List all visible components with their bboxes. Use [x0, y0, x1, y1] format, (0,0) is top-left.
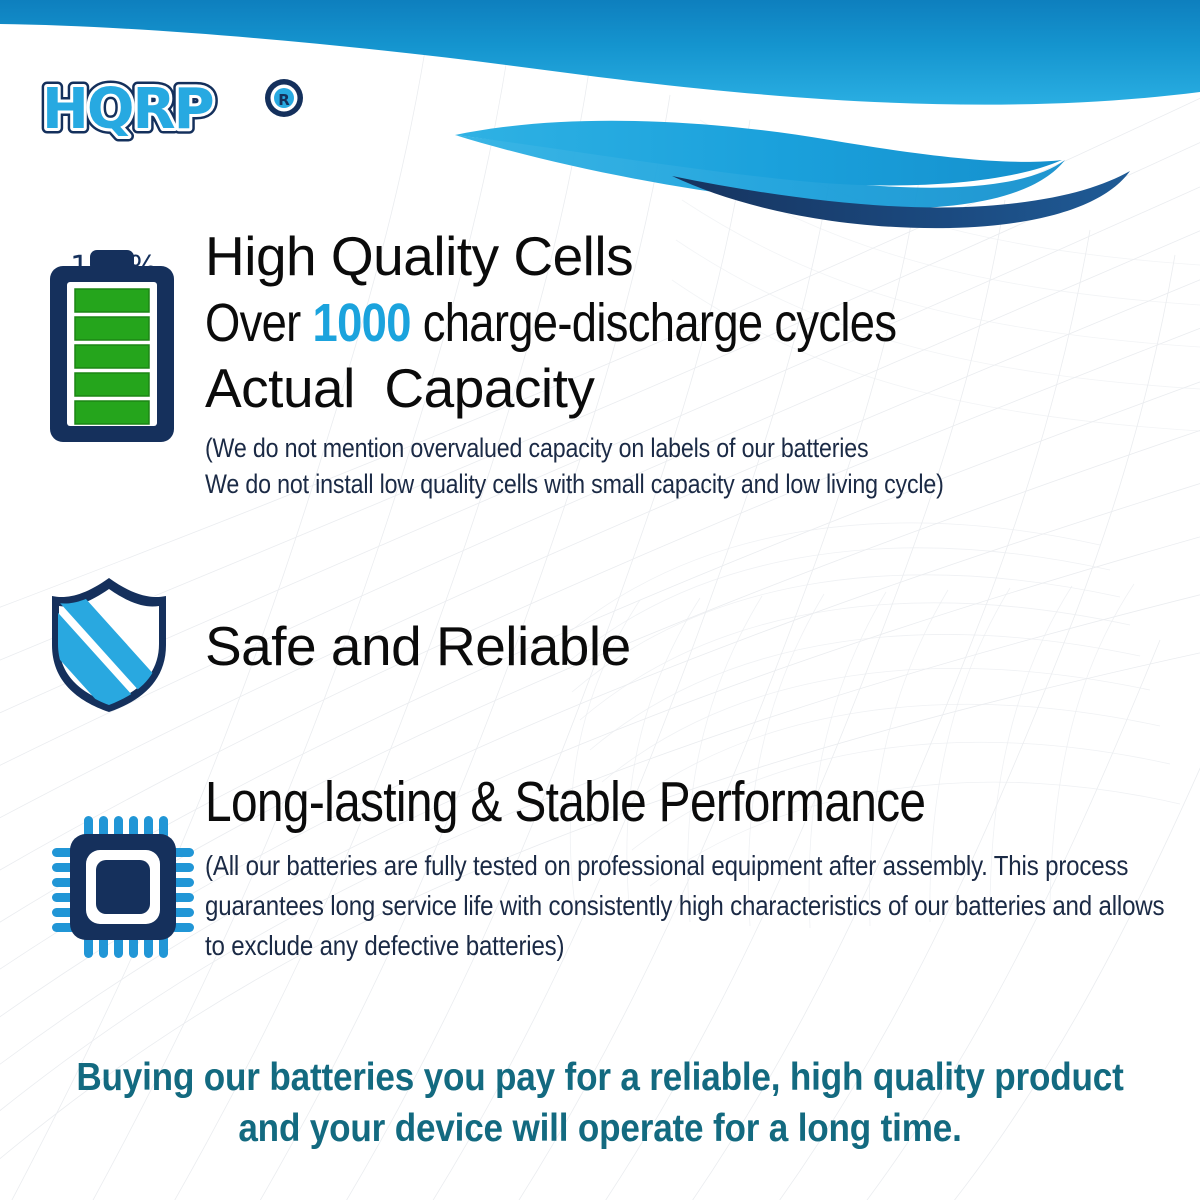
swoosh-light-tail	[455, 135, 1065, 209]
heading-charge-cycles: Over 1000 charge-discharge cycles	[205, 295, 1020, 352]
svg-text:R: R	[278, 91, 290, 109]
footer-line-2: and your device will operate for a long …	[60, 1103, 1140, 1154]
svg-text:HQRP: HQRP	[42, 77, 213, 142]
heading-safe-and-reliable: Safe and Reliable	[205, 618, 1175, 675]
section-long-lasting-performance: Long-lasting & Stable Performance (All o…	[205, 772, 1180, 966]
body-line-capacity-2: We do not install low quality cells with…	[205, 466, 1039, 503]
body-long-lasting-performance: (All our batteries are fully tested on p…	[205, 846, 1177, 965]
heading-actual-capacity: Actual Capacity	[205, 360, 1175, 417]
battery-icon	[42, 248, 182, 448]
hqrp-logo: HQRP HQRP HQRP R	[36, 70, 326, 150]
background-mesh-watermark	[0, 0, 1200, 1200]
heading-long-lasting-performance: Long-lasting & Stable Performance	[205, 772, 1024, 832]
chip-core	[96, 860, 150, 914]
swoosh-light	[455, 121, 1062, 186]
charge-cycles-pre: Over	[205, 293, 313, 353]
battery-level-bars	[75, 289, 149, 424]
registered-trademark-icon: R	[265, 79, 303, 117]
shield-icon	[44, 572, 174, 712]
chip-icon	[48, 812, 198, 962]
infographic-page: HQRP HQRP HQRP R 100% High Quality Cells	[0, 0, 1200, 1200]
footer-line-1: Buying our batteries you pay for a relia…	[60, 1052, 1140, 1103]
charge-cycles-post: charge-discharge cycles	[411, 293, 897, 353]
body-line-capacity-1: (We do not mention overvalued capacity o…	[205, 430, 1039, 467]
footer-tagline: Buying our batteries you pay for a relia…	[0, 1052, 1200, 1155]
charge-cycles-count: 1000	[313, 293, 411, 353]
section-safe-and-reliable: Safe and Reliable	[205, 618, 1175, 675]
section-high-quality-cells: High Quality Cells Over 1000 charge-disc…	[205, 228, 1175, 503]
swoosh-dark	[672, 171, 1130, 228]
heading-high-quality-cells: High Quality Cells	[205, 228, 1175, 285]
